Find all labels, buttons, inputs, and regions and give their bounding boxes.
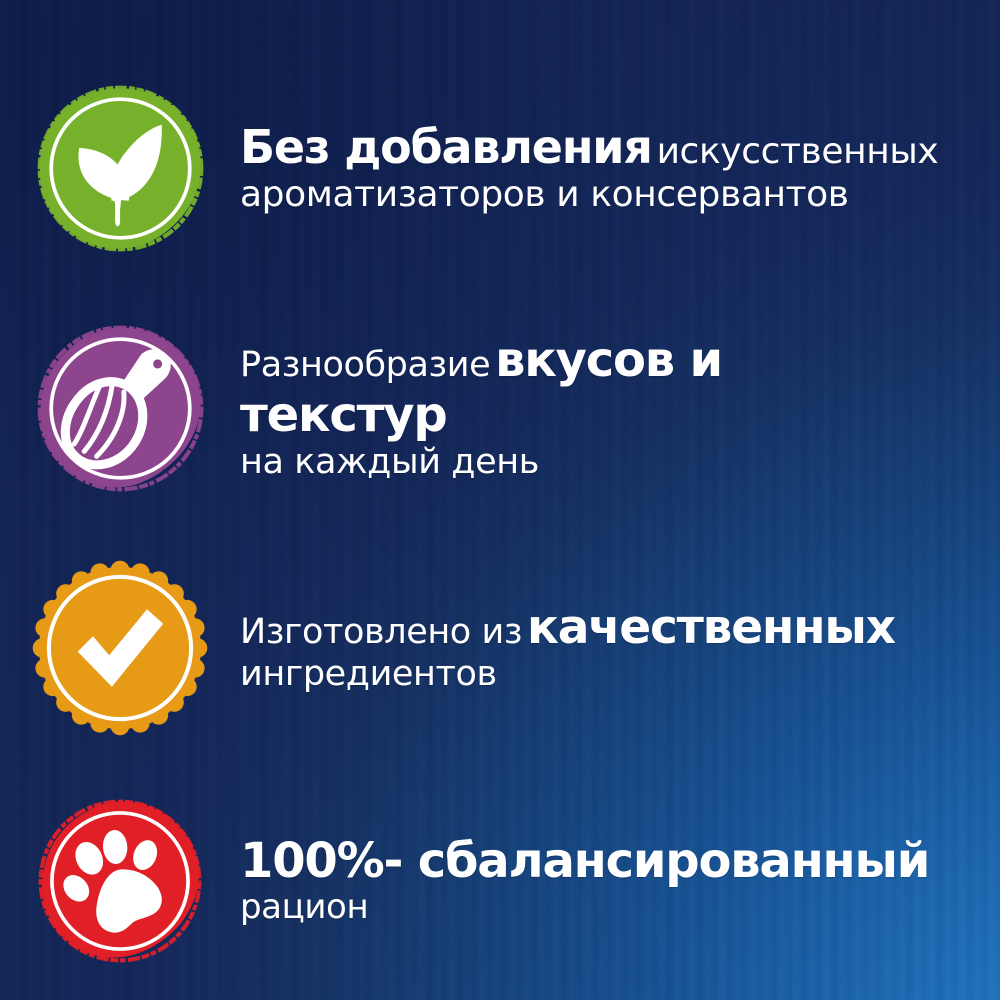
caption-second-line: ароматизаторов и консервантов xyxy=(240,174,849,215)
feature-row-no-additives: Без добавления искусственных ароматизато… xyxy=(0,78,1000,258)
feature-list: Без добавления искусственных ароматизато… xyxy=(0,0,1000,1000)
text-slot: Разнообразие вкусов и текстур на каждый … xyxy=(240,333,1000,482)
badge-slot xyxy=(0,326,240,491)
caption-rest: искусственных xyxy=(657,131,939,172)
caption-emphasis: качественных xyxy=(527,600,895,655)
promo-poster: Без добавления искусственных ароматизато… xyxy=(0,0,1000,1000)
caption-lead: Изготовлено из xyxy=(240,612,522,652)
caption-emphasis: 100%- сбалансированный xyxy=(240,833,929,889)
badge-slot xyxy=(0,800,240,962)
feature-caption: Изготовлено из качественных ингредиентов xyxy=(240,601,940,694)
whisk-badge xyxy=(38,326,203,491)
caption-emphasis: Без добавления xyxy=(240,120,652,174)
feature-caption: Разнообразие вкусов и текстур на каждый … xyxy=(240,333,940,482)
text-slot: Изготовлено из качественных ингредиентов xyxy=(240,601,1000,694)
feature-caption: 100%- сбалансированный рацион xyxy=(240,834,940,927)
caption-second-line: ингредиентов xyxy=(240,654,497,694)
paw-print-badge xyxy=(39,800,201,962)
feature-row-variety: Разнообразие вкусов и текстур на каждый … xyxy=(0,318,1000,498)
badge-slot xyxy=(0,558,240,738)
feature-caption: Без добавления искусственных ароматизато… xyxy=(240,121,940,214)
feature-row-balanced-diet: 100%- сбалансированный рацион xyxy=(0,788,1000,973)
text-slot: 100%- сбалансированный рацион xyxy=(240,834,1000,927)
checkmark-seal-badge xyxy=(30,558,210,738)
leaf-sprout-badge xyxy=(38,86,203,251)
text-slot: Без добавления искусственных ароматизато… xyxy=(240,121,1000,214)
caption-lead: Разнообразие xyxy=(240,345,490,385)
badge-slot xyxy=(0,86,240,251)
caption-second-line: рацион xyxy=(240,887,368,927)
feature-row-quality: Изготовлено из качественных ингредиентов xyxy=(0,548,1000,748)
caption-second-line: на каждый день xyxy=(240,442,539,482)
